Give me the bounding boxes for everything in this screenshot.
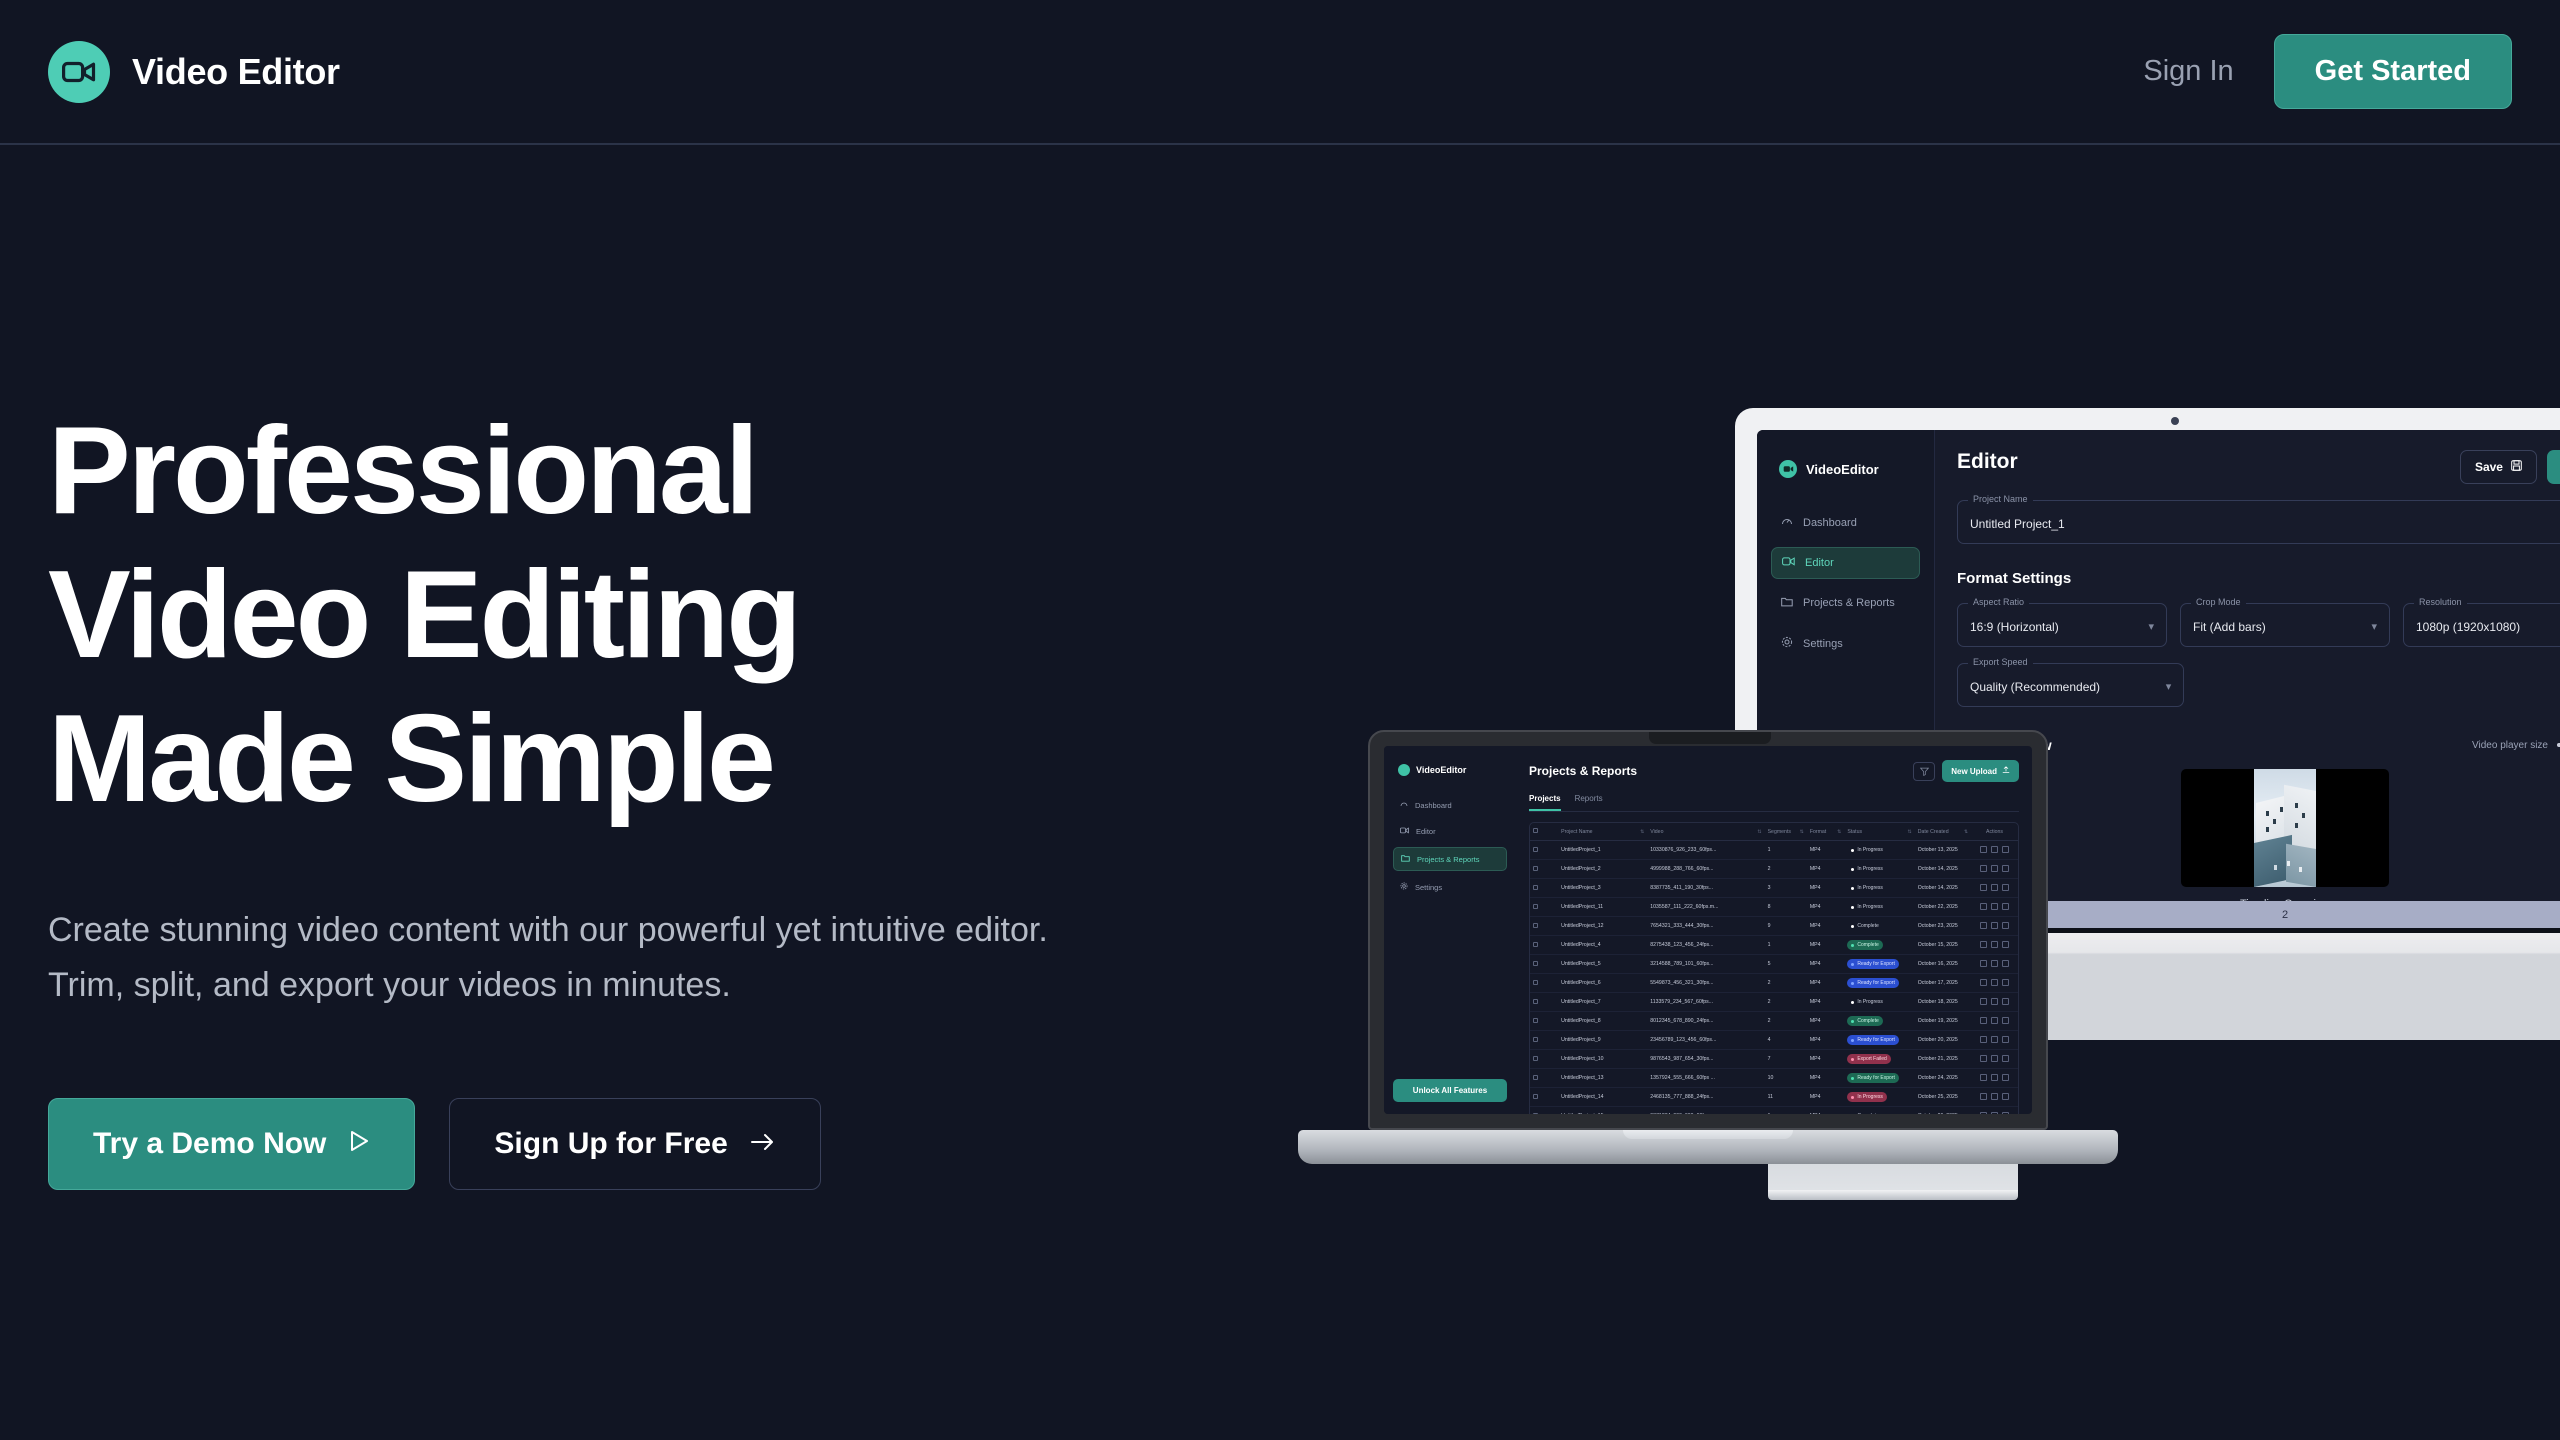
laptop-base xyxy=(1298,1130,2118,1164)
row-checkbox[interactable] xyxy=(1530,974,1558,993)
projects-app-brand: VideoEditor xyxy=(1398,764,1507,776)
trash-icon xyxy=(2002,941,2009,948)
cell-date-created: October 26, 2025 xyxy=(1915,1107,1971,1115)
sort-icon: ⇅ xyxy=(1908,829,1912,835)
cell-video: 1357924_555_666_60fps ... xyxy=(1647,1069,1764,1088)
editor-page-title: Editor xyxy=(1957,450,2018,474)
row-checkbox[interactable] xyxy=(1530,1050,1558,1069)
cell-video: 4999988_288_766_60fps... xyxy=(1647,860,1764,879)
table-row[interactable]: UntitledProject_111035587_111_222_60fps.… xyxy=(1530,898,2018,917)
edit-icon xyxy=(1980,865,1987,872)
cell-actions[interactable] xyxy=(1971,917,2018,936)
hero-title-line-2: Video Editing xyxy=(48,544,1148,688)
edit-icon xyxy=(1980,1112,1987,1115)
cell-project-name: UntitledProject_3 xyxy=(1558,879,1647,898)
cell-format: MP4 xyxy=(1807,860,1845,879)
row-checkbox[interactable] xyxy=(1530,993,1558,1012)
sidebar-item-editor[interactable]: Editor xyxy=(1393,821,1507,842)
download-icon xyxy=(1991,884,1998,891)
play-triangle-icon xyxy=(348,1127,370,1161)
laptop-notch xyxy=(1649,732,1771,744)
table-row[interactable]: UntitledProject_38387735_411_190_30fps..… xyxy=(1530,879,2018,898)
trash-icon xyxy=(2002,1036,2009,1043)
chevron-down-icon: ▾ xyxy=(2166,680,2172,693)
trash-icon xyxy=(2002,1017,2009,1024)
cell-project-name: UntitledProject_4 xyxy=(1558,936,1647,955)
cell-status: In Progress xyxy=(1844,860,1914,879)
checkbox-icon xyxy=(1533,1056,1538,1061)
cell-format: MP4 xyxy=(1807,993,1845,1012)
checkbox-icon xyxy=(1533,828,1538,833)
col-video[interactable]: Video⇅ xyxy=(1647,823,1764,841)
status-badge: Complete xyxy=(1847,940,1882,950)
cell-project-name: UntitledProject_11 xyxy=(1558,898,1647,917)
cell-project-name: UntitledProject_15 xyxy=(1558,1107,1647,1115)
checkbox-icon xyxy=(1533,1018,1538,1023)
chevron-down-icon: ▾ xyxy=(2148,620,2154,633)
status-badge: Export Failed xyxy=(1847,1054,1890,1064)
edit-icon xyxy=(1980,1017,1987,1024)
cell-format: MP4 xyxy=(1807,1088,1845,1107)
cell-status: In Progress xyxy=(1844,993,1914,1012)
projects-app-brand-name: VideoEditor xyxy=(1416,765,1466,775)
cell-format: MP4 xyxy=(1807,898,1845,917)
table-row[interactable]: UntitledProject_159871234_999_000_60fps.… xyxy=(1530,1107,2018,1115)
video-camera-icon xyxy=(1782,557,1795,569)
gear-icon xyxy=(1400,882,1408,892)
editor-app-brand-name: VideoEditor xyxy=(1806,462,1879,477)
status-badge: Complete xyxy=(1847,921,1882,931)
hero-section: Professional Video Editing Made Simple C… xyxy=(48,400,1148,1190)
trash-icon xyxy=(2002,1074,2009,1081)
sidebar-label: Editor xyxy=(1805,557,1834,569)
cell-segments: 8 xyxy=(1765,898,1807,917)
col-date-created[interactable]: Date Created⇅ xyxy=(1915,823,1971,841)
cell-format: MP4 xyxy=(1807,1031,1845,1050)
trash-icon xyxy=(2002,960,2009,967)
folder-icon xyxy=(1401,854,1410,864)
projects-sidebar: VideoEditor Dashboard Editor Projects & … xyxy=(1384,746,1516,1114)
cell-actions[interactable] xyxy=(1971,898,2018,917)
cell-project-name: UntitledProject_1 xyxy=(1558,841,1647,860)
cell-format: MP4 xyxy=(1807,841,1845,860)
cell-video: 5549873_456_321_30fps... xyxy=(1647,974,1764,993)
projects-header-actions: New Upload xyxy=(1913,760,2019,782)
cell-status: Ready for Export xyxy=(1844,974,1914,993)
cell-segments: 4 xyxy=(1765,1031,1807,1050)
table-row[interactable]: UntitledProject_109876543_987_654_30fps.… xyxy=(1530,1050,2018,1069)
crop-mode-legend: Crop Mode xyxy=(2191,597,2246,607)
cell-project-name: UntitledProject_10 xyxy=(1558,1050,1647,1069)
cell-video: 8012345_678_890_24fps... xyxy=(1647,1012,1764,1031)
download-icon xyxy=(1991,903,1998,910)
monitor-stand-foot xyxy=(1768,1190,2018,1200)
building-shape xyxy=(2286,844,2316,887)
cell-video: 10330876_926_233_60fps... xyxy=(1647,841,1764,860)
table-row[interactable]: UntitledProject_142468135_777_888_24fps.… xyxy=(1530,1088,2018,1107)
edit-icon xyxy=(1980,846,1987,853)
editor-header: Editor Save Export xyxy=(1957,450,2560,484)
cell-segments: 2 xyxy=(1765,860,1807,879)
cell-status: In Progress xyxy=(1844,1088,1914,1107)
project-name-legend: Project Name xyxy=(1968,494,2033,504)
cell-date-created: October 24, 2025 xyxy=(1915,1069,1971,1088)
table-row[interactable]: UntitledProject_24999988_288_766_60fps..… xyxy=(1530,860,2018,879)
cell-date-created: October 16, 2025 xyxy=(1915,955,1971,974)
cell-actions[interactable] xyxy=(1971,841,2018,860)
row-checkbox[interactable] xyxy=(1530,917,1558,936)
video-preview-player[interactable] xyxy=(2181,769,2389,887)
cell-segments: 2 xyxy=(1765,974,1807,993)
sidebar-item-dashboard[interactable]: Dashboard xyxy=(1771,506,1920,539)
sign-in-link[interactable]: Sign In xyxy=(2143,55,2233,88)
resolution-value: 1080p (1920x1080) xyxy=(2416,620,2520,634)
checkbox-icon xyxy=(1533,1113,1538,1115)
cell-video: 3214588_789_101_60fps... xyxy=(1647,955,1764,974)
status-badge: Complete xyxy=(1847,1016,1882,1026)
cell-project-name: UntitledProject_14 xyxy=(1558,1088,1647,1107)
landing-page: Video Editor Sign In Get Started Profess… xyxy=(0,0,2560,1440)
cell-date-created: October 14, 2025 xyxy=(1915,879,1971,898)
row-checkbox[interactable] xyxy=(1530,1088,1558,1107)
sidebar-item-editor[interactable]: Editor xyxy=(1771,547,1920,579)
cell-actions[interactable] xyxy=(1971,993,2018,1012)
row-checkbox[interactable] xyxy=(1530,1107,1558,1115)
col-status[interactable]: Status⇅ xyxy=(1844,823,1914,841)
projects-table-body: UntitledProject_110330876_926_233_60fps.… xyxy=(1530,841,2018,1115)
cell-segments: 2 xyxy=(1765,1012,1807,1031)
sidebar-item-settings[interactable]: Settings xyxy=(1393,876,1507,898)
col-segments[interactable]: Segments⇅ xyxy=(1765,823,1807,841)
cell-format: MP4 xyxy=(1807,1012,1845,1031)
cell-segments: 9 xyxy=(1765,917,1807,936)
row-checkbox[interactable] xyxy=(1530,898,1558,917)
sort-icon: ⇅ xyxy=(1757,829,1761,835)
table-row[interactable]: UntitledProject_48275438_123_456_24fps..… xyxy=(1530,936,2018,955)
sort-icon: ⇅ xyxy=(1640,829,1644,835)
trash-icon xyxy=(2002,979,2009,986)
cell-status: In Progress xyxy=(1844,879,1914,898)
trash-icon xyxy=(2002,884,2009,891)
arrow-right-icon xyxy=(750,1127,776,1161)
checkbox-icon xyxy=(1533,923,1538,928)
download-icon xyxy=(1991,1093,1998,1100)
sidebar-item-projects-reports[interactable]: Projects & Reports xyxy=(1393,847,1507,871)
edit-icon xyxy=(1980,1074,1987,1081)
row-checkbox[interactable] xyxy=(1530,879,1558,898)
download-icon xyxy=(1991,922,1998,929)
checkbox-icon xyxy=(1533,980,1538,985)
cell-actions[interactable] xyxy=(1971,936,2018,955)
player-size-label: Video player size xyxy=(2472,740,2548,751)
status-badge: Ready for Export xyxy=(1847,1035,1899,1045)
cell-actions[interactable] xyxy=(1971,1107,2018,1115)
edit-icon xyxy=(1980,1055,1987,1062)
floppy-disk-icon xyxy=(2511,460,2522,474)
trash-icon xyxy=(2002,846,2009,853)
download-icon xyxy=(1991,1017,1998,1024)
gear-icon xyxy=(1781,636,1793,651)
cell-date-created: October 18, 2025 xyxy=(1915,993,1971,1012)
sign-up-free-label: Sign Up for Free xyxy=(494,1127,727,1161)
projects-table: Project Name⇅ Video⇅ Segments⇅ Format⇅ S… xyxy=(1529,822,2019,1114)
edit-icon xyxy=(1980,884,1987,891)
cell-project-name: UntitledProject_5 xyxy=(1558,955,1647,974)
cell-video: 9871234_999_000_60fps... xyxy=(1647,1107,1764,1115)
download-icon xyxy=(1991,1055,1998,1062)
trash-icon xyxy=(2002,865,2009,872)
cell-actions[interactable] xyxy=(1971,974,2018,993)
projects-tabs: Projects Reports xyxy=(1529,794,2019,812)
cell-status: Ready for Export xyxy=(1844,1031,1914,1050)
cell-actions[interactable] xyxy=(1971,1088,2018,1107)
webcam-icon xyxy=(2171,417,2179,425)
cell-segments: 2 xyxy=(1765,993,1807,1012)
hero-subtitle: Create stunning video content with our p… xyxy=(48,903,1108,1012)
funnel-icon[interactable] xyxy=(1913,762,1935,781)
checkbox-icon xyxy=(1533,1094,1538,1099)
cell-date-created: October 17, 2025 xyxy=(1915,974,1971,993)
save-button[interactable]: Save xyxy=(2460,450,2537,484)
status-badge: Ready for Export xyxy=(1847,978,1899,988)
sidebar-item-settings[interactable]: Settings xyxy=(1771,627,1920,660)
status-badge: In Progress xyxy=(1847,1092,1887,1102)
laptop-base-notch xyxy=(1623,1130,1793,1139)
trash-icon xyxy=(2002,903,2009,910)
download-icon xyxy=(1991,1112,1998,1115)
cell-video: 23456789_123_456_60fps... xyxy=(1647,1031,1764,1050)
cell-project-name: UntitledProject_2 xyxy=(1558,860,1647,879)
row-checkbox[interactable] xyxy=(1530,955,1558,974)
cell-format: MP4 xyxy=(1807,974,1845,993)
cell-actions[interactable] xyxy=(1971,879,2018,898)
sort-icon: ⇅ xyxy=(1837,829,1841,835)
status-badge: Ready for Export xyxy=(1847,959,1899,969)
aspect-ratio-select[interactable]: Aspect Ratio 16:9 (Horizontal) ▾ xyxy=(1957,603,2167,647)
table-row[interactable]: UntitledProject_110330876_926_233_60fps.… xyxy=(1530,841,2018,860)
edit-icon xyxy=(1980,998,1987,1005)
status-badge: In Progress xyxy=(1847,864,1887,874)
cell-actions[interactable] xyxy=(1971,1012,2018,1031)
cell-format: MP4 xyxy=(1807,879,1845,898)
cell-video: 1035587_111_222_60fps.m... xyxy=(1647,898,1764,917)
edit-icon xyxy=(1980,979,1987,986)
sidebar-item-projects-reports[interactable]: Projects & Reports xyxy=(1771,587,1920,619)
resolution-legend: Resolution xyxy=(2414,597,2467,607)
hero-title-line-1: Professional xyxy=(48,400,1148,544)
try-demo-button[interactable]: Try a Demo Now xyxy=(48,1098,415,1190)
status-badge: Complete xyxy=(1847,1111,1882,1114)
download-icon xyxy=(1991,1074,1998,1081)
project-name-value: Untitled Project_1 xyxy=(1970,517,2065,531)
checkbox-icon xyxy=(1533,999,1538,1004)
cell-date-created: October 13, 2025 xyxy=(1915,841,1971,860)
table-row[interactable]: UntitledProject_71133579_234_567_60fps..… xyxy=(1530,993,2018,1012)
tab-projects[interactable]: Projects xyxy=(1529,794,1561,811)
cell-project-name: UntitledProject_12 xyxy=(1558,917,1647,936)
download-icon xyxy=(1991,960,1998,967)
table-row[interactable]: UntitledProject_923456789_123_456_60fps.… xyxy=(1530,1031,2018,1050)
trash-icon xyxy=(2002,1055,2009,1062)
cell-project-name: UntitledProject_7 xyxy=(1558,993,1647,1012)
sidebar-label: Projects & Reports xyxy=(1417,855,1480,864)
video-camera-icon xyxy=(1398,764,1410,776)
col-project-name[interactable]: Project Name⇅ xyxy=(1558,823,1647,841)
cell-segments: 11 xyxy=(1765,1088,1807,1107)
checkbox-icon xyxy=(1533,847,1538,852)
sidebar-label: Settings xyxy=(1415,883,1442,892)
cell-status: In Progress xyxy=(1844,841,1914,860)
cell-status: Ready for Export xyxy=(1844,955,1914,974)
laptop-screen: VideoEditor Dashboard Editor Projects & … xyxy=(1384,746,2032,1114)
download-icon xyxy=(1991,846,1998,853)
download-icon xyxy=(1991,941,1998,948)
table-header-row: Project Name⇅ Video⇅ Segments⇅ Format⇅ S… xyxy=(1530,823,2018,841)
upload-icon xyxy=(2002,766,2010,776)
table-row[interactable]: UntitledProject_131357924_555_666_60fps … xyxy=(1530,1069,2018,1088)
table-row[interactable]: UntitledProject_53214588_789_101_60fps..… xyxy=(1530,955,2018,974)
sidebar-label: Settings xyxy=(1803,638,1843,650)
brand[interactable]: Video Editor xyxy=(48,41,340,103)
sidebar-label: Dashboard xyxy=(1803,517,1857,529)
cell-project-name: UntitledProject_9 xyxy=(1558,1031,1647,1050)
cell-actions[interactable] xyxy=(1971,1069,2018,1088)
sidebar-label: Projects & Reports xyxy=(1803,597,1895,609)
cell-status: Export Failed xyxy=(1844,1050,1914,1069)
gauge-icon xyxy=(1400,800,1408,810)
project-name-field[interactable]: Project Name Untitled Project_1 xyxy=(1957,500,2560,544)
projects-page-title: Projects & Reports xyxy=(1529,764,1637,778)
cell-actions[interactable] xyxy=(1971,955,2018,974)
trash-icon xyxy=(2002,998,2009,1005)
hero-cta-group: Try a Demo Now Sign Up for Free xyxy=(48,1098,1148,1190)
row-checkbox[interactable] xyxy=(1530,1069,1558,1088)
edit-icon xyxy=(1980,922,1987,929)
format-settings-row-2: Export Speed Quality (Recommended) ▾ xyxy=(1957,647,2560,707)
cell-actions[interactable] xyxy=(1971,860,2018,879)
new-upload-button[interactable]: New Upload xyxy=(1942,760,2019,782)
sort-icon: ⇅ xyxy=(1800,829,1804,835)
resolution-select[interactable]: Resolution 1080p (1920x1080) ▾ xyxy=(2403,603,2560,647)
hero-title-line-3: Made Simple xyxy=(48,688,1148,832)
sidebar-label: Editor xyxy=(1416,827,1436,836)
row-checkbox[interactable] xyxy=(1530,841,1558,860)
unlock-all-features-button[interactable]: Unlock All Features xyxy=(1393,1079,1507,1102)
download-icon xyxy=(1991,998,1998,1005)
brand-name: Video Editor xyxy=(132,51,340,93)
editor-app-brand: VideoEditor xyxy=(1779,460,1920,478)
format-settings-title: Format Settings xyxy=(1957,570,2560,587)
checkbox-icon xyxy=(1533,1075,1538,1080)
cell-date-created: October 14, 2025 xyxy=(1915,860,1971,879)
player-size-slider[interactable]: Video player size xyxy=(2472,740,2560,751)
cell-video: 8387735_411_190_30fps... xyxy=(1647,879,1764,898)
checkbox-icon xyxy=(1533,961,1538,966)
cell-format: MP4 xyxy=(1807,936,1845,955)
row-checkbox[interactable] xyxy=(1530,1031,1558,1050)
cell-date-created: October 20, 2025 xyxy=(1915,1031,1971,1050)
gauge-icon xyxy=(1781,515,1793,530)
get-started-button[interactable]: Get Started xyxy=(2274,34,2512,109)
status-badge: In Progress xyxy=(1847,902,1887,912)
status-badge: In Progress xyxy=(1847,997,1887,1007)
select-all-checkbox[interactable] xyxy=(1530,823,1558,841)
video-camera-icon xyxy=(1400,827,1409,836)
download-icon xyxy=(1991,865,1998,872)
cell-project-name: UntitledProject_8 xyxy=(1558,1012,1647,1031)
cell-format: MP4 xyxy=(1807,1107,1845,1115)
cell-video: 7654321_333_444_30fps... xyxy=(1647,917,1764,936)
cell-status: Complete xyxy=(1844,1012,1914,1031)
col-format[interactable]: Format⇅ xyxy=(1807,823,1845,841)
video-camera-icon xyxy=(1779,460,1797,478)
row-checkbox[interactable] xyxy=(1530,936,1558,955)
save-label: Save xyxy=(2475,460,2503,474)
export-speed-legend: Export Speed xyxy=(1968,657,2033,667)
status-badge: In Progress xyxy=(1847,883,1887,893)
table-row[interactable]: UntitledProject_88012345_678_890_24fps..… xyxy=(1530,1012,2018,1031)
crop-mode-select[interactable]: Crop Mode Fit (Add bars) ▾ xyxy=(2180,603,2390,647)
folder-icon xyxy=(1781,596,1793,610)
cell-video: 9876543_987_654_30fps... xyxy=(1647,1050,1764,1069)
edit-icon xyxy=(1980,960,1987,967)
cell-segments: 3 xyxy=(1765,879,1807,898)
table-row[interactable]: UntitledProject_65549873_456_321_30fps..… xyxy=(1530,974,2018,993)
cell-format: MP4 xyxy=(1807,1069,1845,1088)
site-header: Video Editor Sign In Get Started xyxy=(0,0,2560,145)
row-checkbox[interactable] xyxy=(1530,1012,1558,1031)
video-thumbnail xyxy=(2254,769,2316,887)
edit-icon xyxy=(1980,1093,1987,1100)
export-speed-select[interactable]: Export Speed Quality (Recommended) ▾ xyxy=(1957,663,2184,707)
checkbox-icon xyxy=(1533,885,1538,890)
row-checkbox[interactable] xyxy=(1530,860,1558,879)
aspect-ratio-value: 16:9 (Horizontal) xyxy=(1970,620,2059,634)
cell-format: MP4 xyxy=(1807,1050,1845,1069)
crop-mode-value: Fit (Add bars) xyxy=(2193,620,2266,634)
cell-date-created: October 23, 2025 xyxy=(1915,917,1971,936)
cell-status: Complete xyxy=(1844,1107,1914,1115)
edit-icon xyxy=(1980,903,1987,910)
export-button[interactable]: Export xyxy=(2547,450,2560,484)
cell-status: In Progress xyxy=(1844,898,1914,917)
checkbox-icon xyxy=(1533,942,1538,947)
table-row[interactable]: UntitledProject_127654321_333_444_30fps.… xyxy=(1530,917,2018,936)
download-icon xyxy=(1991,1036,1998,1043)
sidebar-item-dashboard[interactable]: Dashboard xyxy=(1393,794,1507,816)
page-title: Professional Video Editing Made Simple xyxy=(48,400,1148,831)
cell-project-name: UntitledProject_6 xyxy=(1558,974,1647,993)
try-demo-label: Try a Demo Now xyxy=(93,1127,326,1161)
col-actions: Actions xyxy=(1971,823,2018,841)
tab-reports[interactable]: Reports xyxy=(1575,794,1603,811)
cell-actions[interactable] xyxy=(1971,1031,2018,1050)
projects-header: Projects & Reports New Upload xyxy=(1529,760,2019,782)
cell-segments: 10 xyxy=(1765,1069,1807,1088)
cell-status: Ready for Export xyxy=(1844,1069,1914,1088)
sort-icon: ⇅ xyxy=(1964,829,1968,835)
video-camera-icon xyxy=(48,41,110,103)
sign-up-free-button[interactable]: Sign Up for Free xyxy=(449,1098,820,1190)
cell-format: MP4 xyxy=(1807,955,1845,974)
cell-actions[interactable] xyxy=(1971,1050,2018,1069)
new-upload-label: New Upload xyxy=(1951,767,1997,776)
cell-date-created: October 25, 2025 xyxy=(1915,1088,1971,1107)
trash-icon xyxy=(2002,1093,2009,1100)
checkbox-icon xyxy=(1533,1037,1538,1042)
chevron-down-icon: ▾ xyxy=(2371,620,2377,633)
cell-status: Complete xyxy=(1844,917,1914,936)
